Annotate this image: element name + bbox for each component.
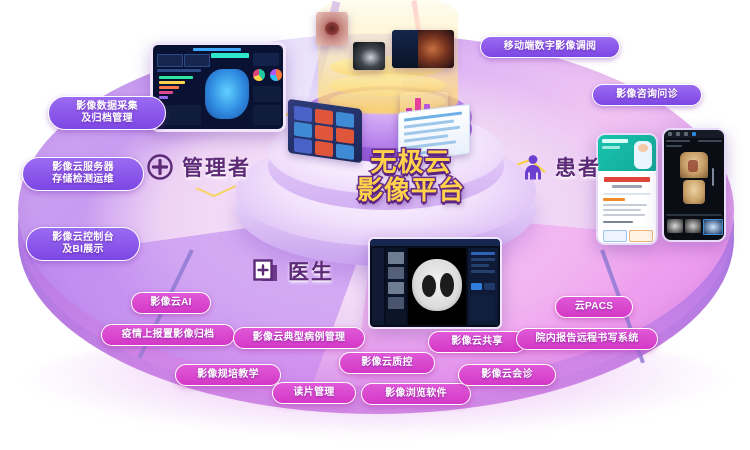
tag-share[interactable]: 影像云共享 — [428, 331, 526, 353]
tag-data-collect[interactable]: 影像数据采集 及归档管理 — [48, 96, 166, 130]
page-title: 无极云 影像平台 — [326, 148, 496, 204]
tag-mobile-image[interactable]: 移动端数字影像调阅 — [480, 36, 620, 58]
tag-epidemic[interactable]: 疫情上报置影像归档 — [101, 324, 235, 346]
role-patient-label: 患者 — [555, 152, 601, 182]
person-icon — [519, 153, 547, 181]
ct-viewer-screen[interactable] — [368, 237, 502, 329]
tag-remote-report[interactable]: 院内报告远程书写系统 — [516, 328, 658, 350]
phone-report-app[interactable] — [596, 133, 658, 245]
tag-training[interactable]: 影像规培教学 — [175, 364, 281, 386]
infographic-canvas: 无极云 影像平台 管理者 患者 医生 — [0, 0, 750, 450]
tag-mdt[interactable]: 影像云会诊 — [458, 364, 556, 386]
medical-record-icon — [252, 257, 280, 285]
floating-ultrasound-image — [353, 42, 385, 70]
role-admin-label: 管理者 — [182, 152, 251, 182]
title-line-1: 无极云 — [370, 147, 451, 177]
floating-ct-image — [392, 30, 454, 68]
role-doctor[interactable]: 医生 — [252, 256, 334, 286]
tag-read-mgmt[interactable]: 读片管理 — [272, 382, 356, 404]
bi-dashboard-screen[interactable] — [150, 42, 286, 132]
tag-console-bi[interactable]: 影像云控制台 及BI展示 — [26, 227, 140, 261]
role-doctor-label: 医生 — [288, 256, 334, 286]
tag-cloud-server[interactable]: 影像云服务器 存储检测运维 — [22, 157, 144, 191]
tag-consult[interactable]: 影像咨询问诊 — [592, 84, 702, 106]
tag-case-mgmt[interactable]: 影像云典型病例管理 — [233, 327, 365, 349]
tag-cloud-ai[interactable]: 影像云AI — [131, 292, 211, 314]
tag-viewer[interactable]: 影像浏览软件 — [361, 383, 471, 405]
circle-plus-icon — [146, 153, 174, 181]
floating-endoscopy-image — [316, 12, 348, 46]
role-patient[interactable]: 患者 — [519, 152, 601, 182]
tag-cloud-pacs[interactable]: 云PACS — [555, 296, 633, 318]
tag-qc[interactable]: 影像云质控 — [339, 352, 435, 374]
title-line-2: 影像平台 — [326, 176, 496, 204]
role-admin[interactable]: 管理者 — [146, 152, 251, 182]
phone-3d-imaging-app[interactable] — [662, 128, 726, 242]
